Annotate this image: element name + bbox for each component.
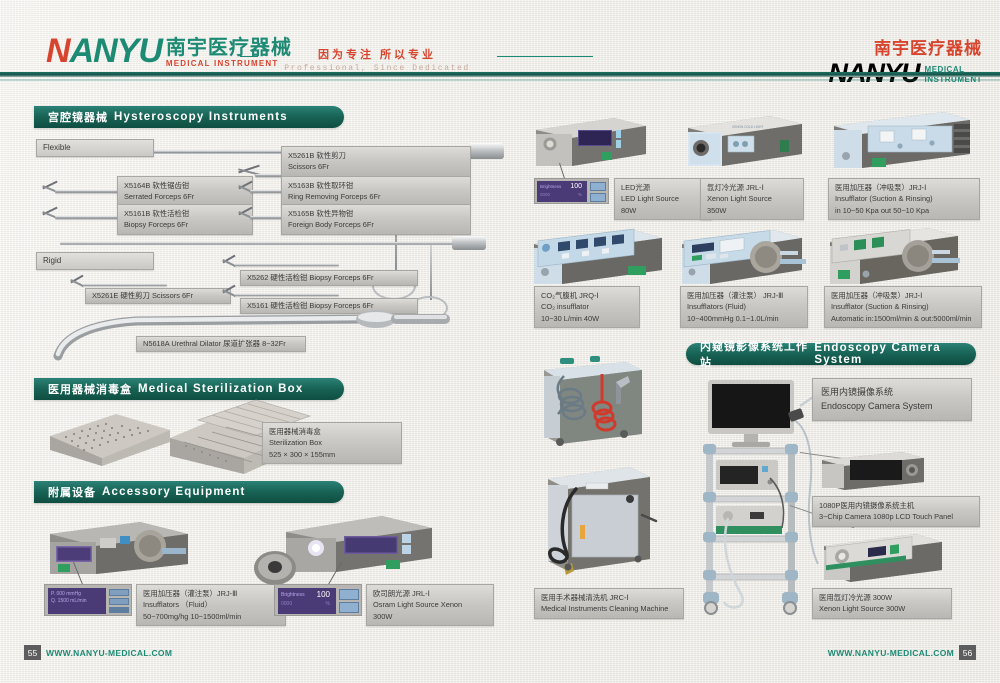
hysteroscope-handle <box>468 143 504 159</box>
brightness-value: 100 <box>317 592 330 598</box>
brand-initial: N <box>46 32 70 70</box>
brand-logo-left: NANYU 南宇医疗器械 MEDICAL INSTRUMENT <box>46 34 292 68</box>
device-3chip-camera <box>818 446 938 492</box>
caption-insufflator-fluid-right: 医用加压器（灌注泵） JRJ-Ⅲ Insufflators (Fluid) 10… <box>680 286 808 328</box>
caption-co2-insufflator: CO₂气腹机 JRQ-Ⅰ CO₂ insufflator 10~30 L/min… <box>534 286 640 328</box>
section-title-en-2: Medical Sterilization Box <box>138 383 303 395</box>
panel-closeup-insufflator: P. 000 mmHg Q. 1500 mL/min <box>44 584 132 616</box>
brand-rest: ANYU <box>70 32 162 70</box>
brightness-label: Brightness <box>281 592 305 598</box>
led-brightness-label: Brightness <box>540 184 561 190</box>
svg-text:XENON COLD LIGHT: XENON COLD LIGHT <box>732 125 763 129</box>
rigid-scope-arm <box>430 245 432 300</box>
led-sub-label: 0000 <box>540 192 550 197</box>
caption-x5163b: X5163B 软性取环钳 Ring Removing Forceps 6Fr <box>281 176 471 207</box>
device-cleaning-cart <box>530 352 650 462</box>
instrument-x5161-shaft <box>234 294 339 296</box>
caption-accessory-insufflator: 医用加压器（灌注泵）JRJ-Ⅲ Insufflators （Fluid） 50~… <box>136 584 286 626</box>
device-osram-light-source <box>278 508 438 578</box>
brand-cn-right: 南宇医疗器械 <box>829 34 982 59</box>
website-left[interactable]: WWW.NANYU-MEDICAL.COM <box>46 648 172 658</box>
panel-sub-unit: % <box>326 601 330 607</box>
caption-cleaning-machine: 医用手术器械清洗机 JRC-Ⅰ Medical Instruments Clea… <box>534 588 684 619</box>
caption-accessory-osram: 欧司朗光源 JRL-Ⅰ Osram Light Source Xenon 300… <box>366 584 494 626</box>
header-rule-shadow <box>0 79 1000 81</box>
device-co2-insufflator <box>528 222 668 290</box>
panel-row1: P. 000 mmHg <box>48 588 106 597</box>
panel-row2: Q. 1500 mL/min <box>48 597 106 604</box>
section-title-en: Hysteroscopy Instruments <box>114 111 288 123</box>
caption-x5261b: X5261B 软性剪刀 Scissors 6Fr <box>281 146 471 177</box>
section-title-en-4: Endoscopy Camera System <box>814 342 976 366</box>
section-title-zh-4: 内窥镜影像系统工作站 <box>700 338 808 370</box>
caption-led-light-source: LED光源 LED Light Source 80W <box>614 178 712 220</box>
device-cleaning-machine <box>530 455 660 580</box>
section-header-sterilization: 医用器械消毒盒 Medical Sterilization Box <box>34 378 344 400</box>
caption-x5262: X5262 硬性活检钳 Biopsy Forceps 6Fr <box>240 270 418 286</box>
rigid-hysteroscope-shaft <box>60 242 460 245</box>
group-label-rigid: Rigid <box>36 252 154 270</box>
caption-3chip-camera: 1080P医用内镜摄像系统主机 3~Chip Camera 1080p LCD … <box>812 496 980 527</box>
section-header-accessory: 附属设备 Accessory Equipment <box>34 481 344 503</box>
page-footer: 55 WWW.NANYU-MEDICAL.COM WWW.NANYU-MEDIC… <box>0 645 1000 661</box>
page-header: NANYU 南宇医疗器械 MEDICAL INSTRUMENT 因为专注 所以专… <box>0 0 1000 78</box>
section-title-zh: 宫腔镜器械 <box>48 109 108 125</box>
sterilization-box-closed <box>44 406 174 468</box>
device-xenon-300w <box>820 528 955 586</box>
caption-x5164b: X5164B 软性锯齿钳 Serrated Forceps 6Fr <box>117 176 253 207</box>
page-number-left: 55 <box>24 645 41 660</box>
page-number-right: 56 <box>959 645 976 660</box>
brand-wordmark-left: NANYU <box>46 34 162 68</box>
section-header-hysteroscopy: 宫腔镜器械 Hysteroscopy Instruments <box>34 106 344 128</box>
section-title-zh-2: 医用器械消毒盒 <box>48 381 132 397</box>
caption-suction-rinsing-auto: 医用加压器（冲吸泵）JRJ-Ⅰ Insufflator (Suction & R… <box>824 286 982 328</box>
catalog-spread: NANYU 南宇医疗器械 MEDICAL INSTRUMENT 因为专注 所以专… <box>0 0 1000 683</box>
device-insufflator-suction <box>828 104 978 174</box>
device-insufflator-fluid-right <box>676 222 821 290</box>
section-header-camera: 内窥镜影像系统工作站 Endoscopy Camera System <box>686 343 976 365</box>
urethral-dilator-graphic <box>40 300 450 362</box>
device-xenon-light-source: XENON COLD LIGHT <box>682 110 807 172</box>
caption-camera-system: 医用内镜摄像系统 Endoscopy Camera System <box>812 378 972 421</box>
slogan: 因为专注 所以专业 Professional, Since Dedicated <box>262 46 492 73</box>
instrument-x5262-shaft <box>234 264 339 266</box>
panel-closeup-osram: Brightness 100 0000 % <box>274 584 362 616</box>
led-brightness-value: 100 <box>570 184 582 190</box>
caption-xenon-light-source: 氙灯冷光源 JRL-Ⅰ Xenon Light Source 350W <box>700 178 804 220</box>
section-title-zh-3: 附属设备 <box>48 484 96 500</box>
device-led-light-source <box>530 110 650 172</box>
caption-x5165b: X5165B 软性异物钳 Foreign Body Forceps 6Fr <box>281 204 471 235</box>
rigid-scope-handle <box>452 236 486 250</box>
device-insufflator-fluid <box>44 512 194 582</box>
slogan-rule-right <box>497 56 593 57</box>
panel-closeup-led: Brightness 100 0000 % <box>534 178 609 204</box>
header-rule <box>0 72 1000 77</box>
instrument-x5261e-shaft <box>82 284 167 286</box>
panel-sub-label: 0000 <box>281 601 292 607</box>
light-adapter-icon <box>252 548 298 588</box>
device-suction-rinsing-auto <box>824 220 974 290</box>
slogan-cn: 因为专注 所以专业 <box>262 46 492 62</box>
caption-sterilization-box: 医用器械消毒盒 Sterilization Box 525 × 300 × 15… <box>262 422 402 464</box>
slogan-rule-left <box>240 56 258 57</box>
group-label-flexible: Flexible <box>36 139 154 157</box>
caption-xenon-300w: 医用氙灯冷光源 300W Xenon Light Source 300W <box>812 588 952 619</box>
caption-n5618a: N5618A Urethral Dilator 尿道扩张器 8~32Fr <box>136 336 306 352</box>
led-sub-unit: % <box>578 192 582 197</box>
caption-x5161b: X5161B 软性活检钳 Biopsy Forceps 6Fr <box>117 204 253 235</box>
website-right[interactable]: WWW.NANYU-MEDICAL.COM <box>828 648 954 658</box>
caption-insufflator-suction-top: 医用加压器（冲吸泵）JRJ-Ⅰ Insufflator (Suction & R… <box>828 178 980 220</box>
section-title-en-3: Accessory Equipment <box>102 486 246 498</box>
